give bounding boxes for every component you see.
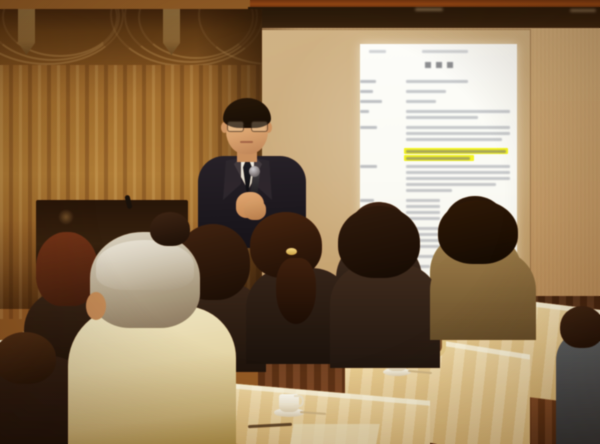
slide-row-text [406, 189, 452, 192]
slide-row-label [360, 110, 369, 113]
slide-row-text [406, 183, 496, 186]
coffee-cup-3 [274, 393, 304, 417]
slide-row-text [406, 205, 440, 208]
slide-row-text [406, 90, 446, 93]
slide-title [425, 62, 453, 68]
slide-row-text [406, 177, 510, 180]
slide-row-label [360, 126, 377, 129]
slide-row-text [406, 199, 440, 202]
seminar-photo [0, 0, 600, 444]
hair-clip-icon [286, 248, 297, 255]
slide-row-text [406, 165, 510, 168]
presenter-hand-right [244, 200, 266, 220]
slide-highlight-text [406, 150, 506, 153]
slide-row-text [406, 100, 436, 103]
slide-row-text [406, 171, 510, 174]
slide-row-text [406, 138, 502, 141]
slide-row-text [406, 116, 478, 119]
slide-row-label [360, 165, 377, 168]
ceiling-downlight-icon [415, 8, 443, 11]
slide-row-label [360, 100, 382, 103]
slide-row-label [360, 80, 376, 83]
gray-hair [96, 240, 194, 290]
slide-row-text [406, 80, 468, 83]
slide-row-text [406, 132, 510, 135]
eyeglasses-icon [226, 121, 268, 131]
slide-row-text [406, 211, 440, 214]
ear-icon [86, 292, 106, 320]
paper-handout [290, 424, 380, 444]
slide-highlight-text [406, 157, 470, 160]
slide-row-label [360, 199, 374, 202]
presenter-mouth [240, 141, 253, 143]
slide-row-text [406, 110, 510, 113]
lectern-emblem-icon [58, 209, 74, 225]
ceiling-downlight-icon-2 [570, 9, 596, 12]
slide-row-text [406, 126, 510, 129]
slide-row-label [360, 90, 373, 93]
